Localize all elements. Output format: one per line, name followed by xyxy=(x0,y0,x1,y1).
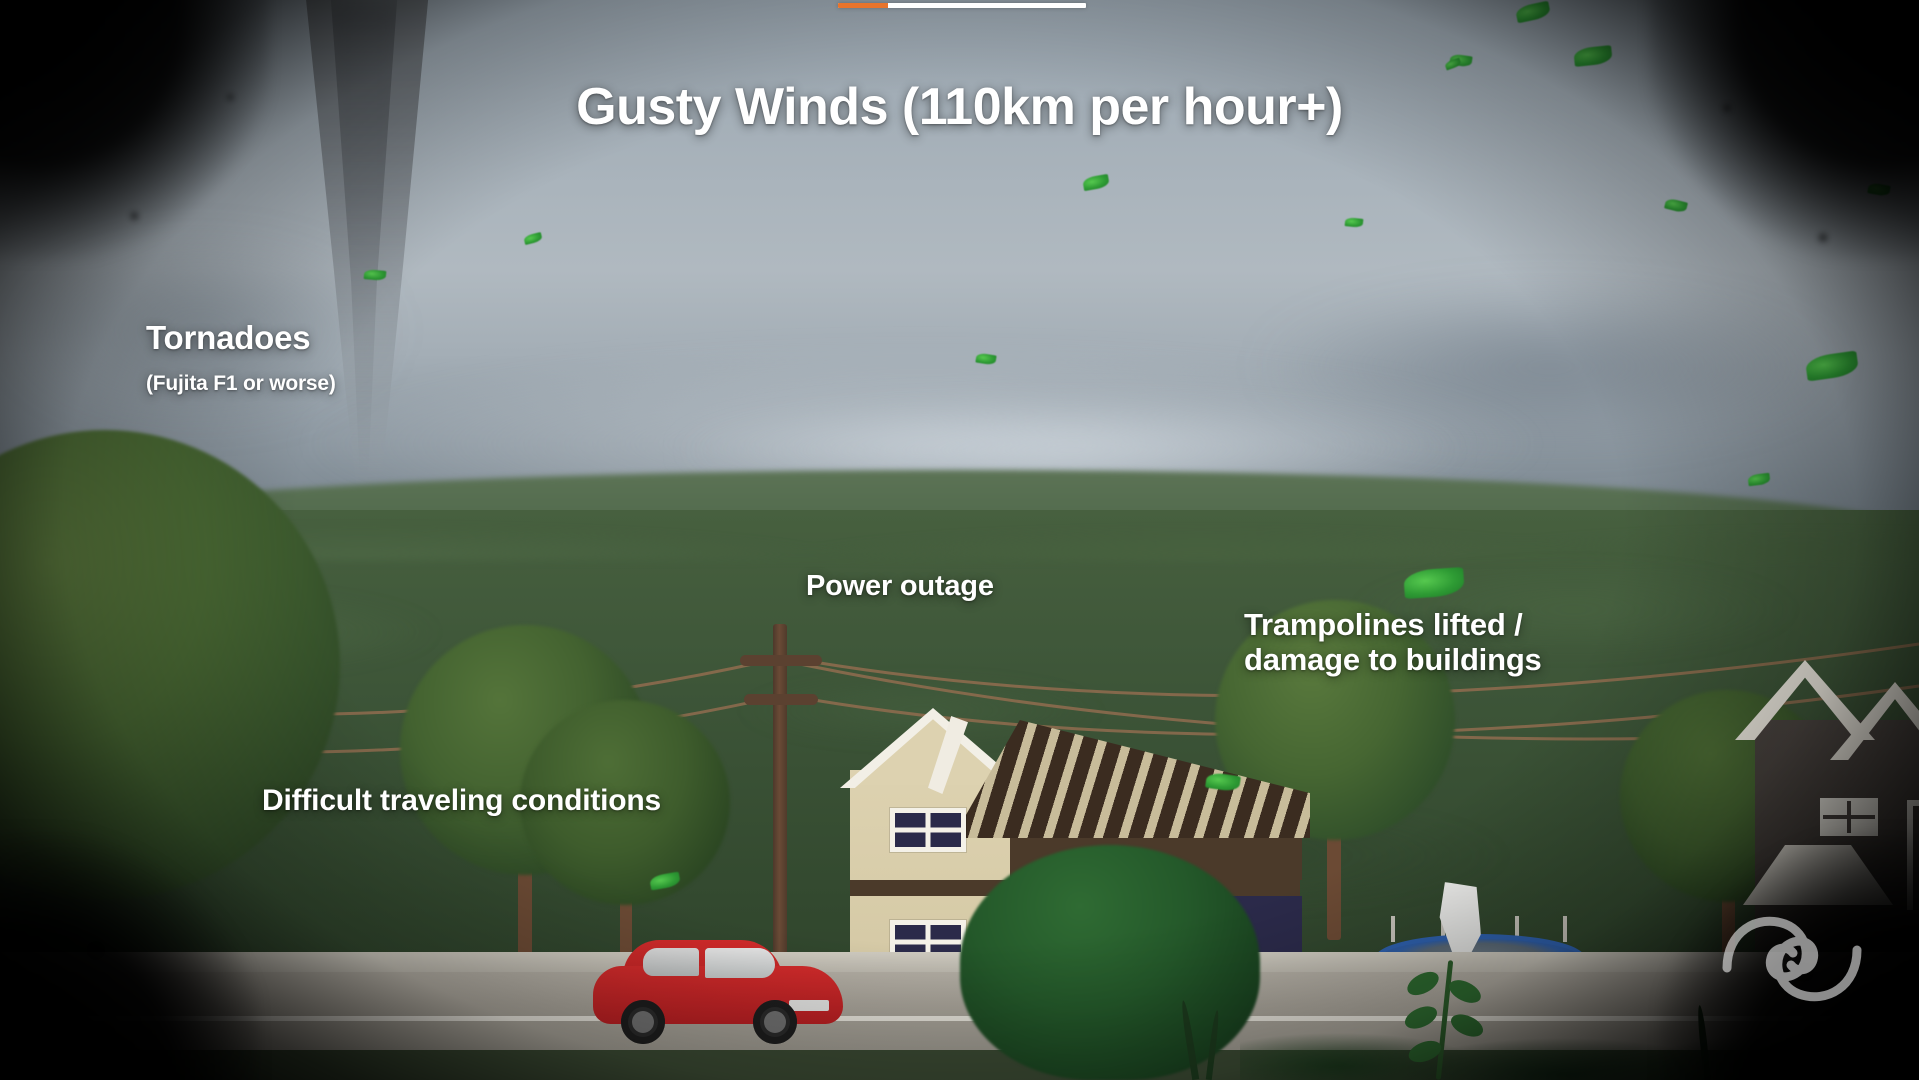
label-tornadoes-subtitle: (Fujita F1 or worse) xyxy=(146,372,336,396)
foreground-shrub-mass xyxy=(1240,1010,1919,1080)
car-front-wheel xyxy=(621,1000,665,1044)
video-progress-fill xyxy=(838,3,888,8)
label-difficult-traveling: Difficult traveling conditions xyxy=(262,784,661,818)
house-right-door xyxy=(1907,800,1919,910)
scene-stage: Gusty Winds (110km per hour+) Tornadoes … xyxy=(0,0,1919,1080)
house-right-window xyxy=(1820,798,1878,836)
trampoline-leg xyxy=(1391,916,1395,942)
video-progress-bar[interactable] xyxy=(838,3,1086,8)
plant-leaf xyxy=(1446,976,1485,1008)
utility-pole-crossarm-lower xyxy=(744,694,818,705)
car-rear-window xyxy=(705,948,775,978)
trampoline-leg xyxy=(1563,916,1567,942)
foreground-plant xyxy=(1390,960,1510,1080)
car-front-window xyxy=(643,948,699,976)
tree-canopy xyxy=(0,430,340,900)
tree-big-left xyxy=(0,430,340,970)
label-trampolines-damage: Trampolines lifted / damage to buildings xyxy=(1244,608,1542,677)
car-rear-wheel xyxy=(753,1000,797,1044)
car-red-hatchback xyxy=(593,940,843,1045)
house-right xyxy=(1725,650,1919,950)
page-title: Gusty Winds (110km per hour+) xyxy=(0,78,1919,136)
plant-leaf xyxy=(1402,1002,1441,1033)
plant-leaf xyxy=(1404,967,1443,1000)
house-window-upper xyxy=(890,808,966,852)
house-roof-damaged-rafters xyxy=(938,720,1310,838)
label-tornadoes: Tornadoes xyxy=(146,320,310,357)
label-power-outage: Power outage xyxy=(806,570,994,602)
car-license-plate xyxy=(789,1000,829,1011)
plant-leaf xyxy=(1448,1010,1487,1041)
utility-pole-crossarm-upper xyxy=(740,655,822,666)
